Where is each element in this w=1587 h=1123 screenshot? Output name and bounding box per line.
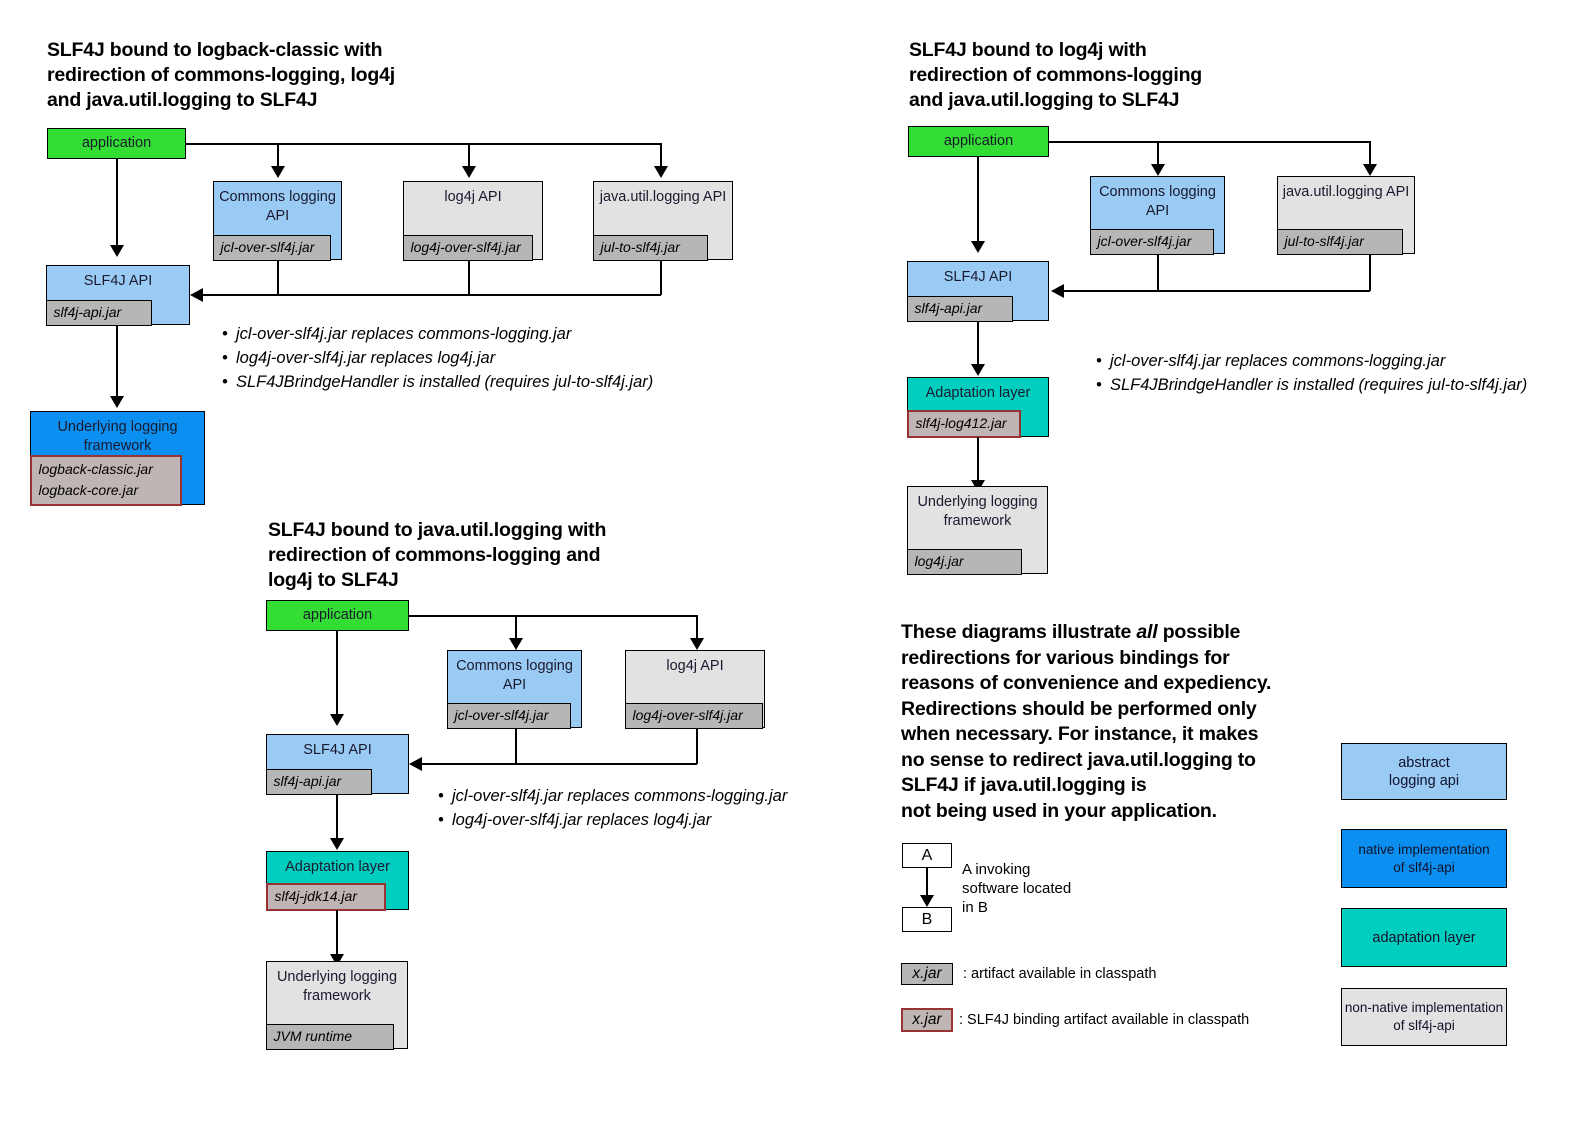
arrowhead-down-icon [971, 364, 985, 376]
diagram-jul-heading: SLF4J bound to java.util.logging with re… [268, 518, 688, 593]
connector-bus [420, 763, 697, 765]
connector-segment [977, 437, 979, 481]
arrowhead-down-icon [971, 241, 985, 253]
jar-chip-binding: logback-classic.jar logback-core.jar [30, 455, 182, 506]
legend-swatch-adaptation-layer: adaptation layer [1341, 908, 1507, 967]
connector-bus [1049, 141, 1370, 143]
connector-segment [1157, 254, 1159, 291]
connector-segment [977, 321, 979, 365]
jar-chip-binding: slf4j-log412.jar [907, 410, 1021, 438]
jar-chip: log4j-over-slf4j.jar [403, 235, 533, 261]
node-commons-logging-api-logback: Commons logging API jcl-over-slf4j.jar [213, 181, 342, 260]
connector-segment [1369, 254, 1371, 291]
legend-connector [926, 868, 928, 896]
connector-bus [186, 143, 661, 145]
node-underlying-framework-log4j: Underlying logging framework log4j.jar [907, 486, 1048, 574]
connector-bus [200, 294, 661, 296]
legend-swatch-native-implementation: native implementation of slf4j-api [1341, 829, 1507, 888]
note-text: jcl-over-slf4j.jar replaces commons-logg… [452, 787, 787, 805]
arrowhead-down-icon [330, 838, 344, 850]
notes-jul: •jcl-over-slf4j.jar replaces commons-log… [438, 784, 787, 832]
arrowhead-down-icon [1363, 164, 1377, 176]
jar-chip: slf4j-api.jar [46, 300, 152, 326]
node-jul-api-log4j: java.util.logging API jul-to-slf4j.jar [1277, 176, 1415, 254]
connector-segment [116, 325, 118, 397]
arrowhead-down-icon [1151, 164, 1165, 176]
connector-segment [696, 728, 698, 764]
node-log4j-api-logback: log4j API log4j-over-slf4j.jar [403, 181, 543, 260]
node-slf4j-api-log4j: SLF4J API slf4j-api.jar [907, 261, 1049, 321]
arrowhead-left-icon [409, 757, 422, 771]
note-text: log4j-over-slf4j.jar replaces log4j.jar [236, 349, 495, 367]
jar-chip: log4j.jar [907, 549, 1022, 575]
node-application-logback: application [47, 128, 186, 159]
connector-segment [116, 159, 118, 246]
jar-chip: jcl-over-slf4j.jar [213, 235, 331, 261]
connector-segment [277, 260, 279, 295]
jar-chip: jcl-over-slf4j.jar [1090, 229, 1214, 255]
notes-logback: •jcl-over-slf4j.jar replaces commons-log… [222, 322, 653, 394]
legend-jar-binding: x.jar [901, 1008, 953, 1032]
arrowhead-left-icon [190, 288, 203, 302]
paragraph-part-1: These diagrams illustrate [901, 621, 1136, 643]
node-commons-logging-api-log4j: Commons logging API jcl-over-slf4j.jar [1090, 176, 1225, 254]
note-text: SLF4JBrindgeHandler is installed (requir… [1110, 376, 1527, 394]
arrowhead-down-icon [110, 245, 124, 257]
node-application-log4j: application [908, 126, 1049, 157]
legend-jar-binding-caption: : SLF4J binding artifact available in cl… [959, 1011, 1249, 1030]
legend-box-a: A [902, 843, 952, 868]
jar-chip: JVM runtime [266, 1024, 394, 1050]
node-label: application [48, 134, 185, 153]
note-text: jcl-over-slf4j.jar replaces commons-logg… [1110, 352, 1445, 370]
explanatory-paragraph: These diagrams illustrate all possible r… [901, 620, 1341, 824]
paragraph-part-2: possible redirections for various bindin… [901, 621, 1271, 822]
arrowhead-down-icon [654, 166, 668, 178]
diagram-log4j-heading: SLF4J bound to log4j with redirection of… [909, 38, 1339, 113]
legend-jar-plain: x.jar [901, 963, 953, 985]
node-application-jul: application [266, 600, 409, 631]
diagram-canvas: SLF4J bound to logback-classic with redi… [0, 0, 1587, 1123]
node-underlying-framework-logback: Underlying logging framework logback-cla… [30, 411, 205, 505]
connector-segment [468, 260, 470, 295]
note-text: SLF4JBrindgeHandler is installed (requir… [236, 373, 653, 391]
node-commons-logging-api-jul: Commons logging API jcl-over-slf4j.jar [447, 650, 582, 728]
connector-bus [1062, 290, 1370, 292]
arrowhead-down-icon [462, 166, 476, 178]
node-adaptation-layer-jul: Adaptation layer slf4j-jdk14.jar [266, 851, 409, 910]
legend-swatch-non-native-implementation: non-native implementation of slf4j-api [1341, 988, 1507, 1046]
jar-chip: slf4j-api.jar [907, 296, 1013, 322]
note-text: jcl-over-slf4j.jar replaces commons-logg… [236, 325, 571, 343]
legend-jar-plain-caption: : artifact available in classpath [963, 965, 1156, 984]
legend-box-b: B [902, 907, 952, 932]
jar-chip: jcl-over-slf4j.jar [447, 703, 571, 729]
arrowhead-down-icon [509, 638, 523, 650]
jar-chip: jul-to-slf4j.jar [1277, 229, 1403, 255]
connector-segment [336, 794, 338, 839]
arrowhead-left-icon [1051, 284, 1064, 298]
connector-segment [660, 260, 662, 295]
node-adaptation-layer-log4j: Adaptation layer slf4j-log412.jar [907, 377, 1049, 437]
arrowhead-down-icon [330, 714, 344, 726]
node-slf4j-api-jul: SLF4J API slf4j-api.jar [266, 734, 409, 794]
node-jul-api-logback: java.util.logging API jul-to-slf4j.jar [593, 181, 733, 260]
node-label: application [909, 132, 1048, 151]
jar-chip-binding: slf4j-jdk14.jar [266, 883, 386, 911]
arrowhead-down-icon [271, 166, 285, 178]
paragraph-emphasis: all [1136, 621, 1157, 643]
connector-segment [977, 157, 979, 242]
node-label: application [267, 606, 408, 625]
arrowhead-down-icon [110, 396, 124, 408]
connector-bus [409, 615, 697, 617]
node-underlying-framework-jul: Underlying logging framework JVM runtime [266, 961, 408, 1049]
legend-swatch-abstract-logging-api: abstract logging api [1341, 743, 1507, 800]
connector-segment [336, 631, 338, 715]
arrowhead-down-icon [920, 895, 934, 907]
arrowhead-down-icon [690, 638, 704, 650]
jar-chip: slf4j-api.jar [266, 769, 372, 795]
diagram-logback-heading: SLF4J bound to logback-classic with redi… [47, 38, 467, 113]
legend-arrow-caption: A invoking software located in B [962, 860, 1071, 917]
note-text: log4j-over-slf4j.jar replaces log4j.jar [452, 811, 711, 829]
connector-segment [336, 910, 338, 955]
connector-segment [515, 728, 517, 764]
jar-chip: jul-to-slf4j.jar [593, 235, 708, 261]
jar-chip: log4j-over-slf4j.jar [625, 703, 763, 729]
notes-log4j: •jcl-over-slf4j.jar replaces commons-log… [1096, 349, 1527, 397]
node-slf4j-api-logback: SLF4J API slf4j-api.jar [46, 265, 190, 325]
node-log4j-api-jul: log4j API log4j-over-slf4j.jar [625, 650, 765, 728]
